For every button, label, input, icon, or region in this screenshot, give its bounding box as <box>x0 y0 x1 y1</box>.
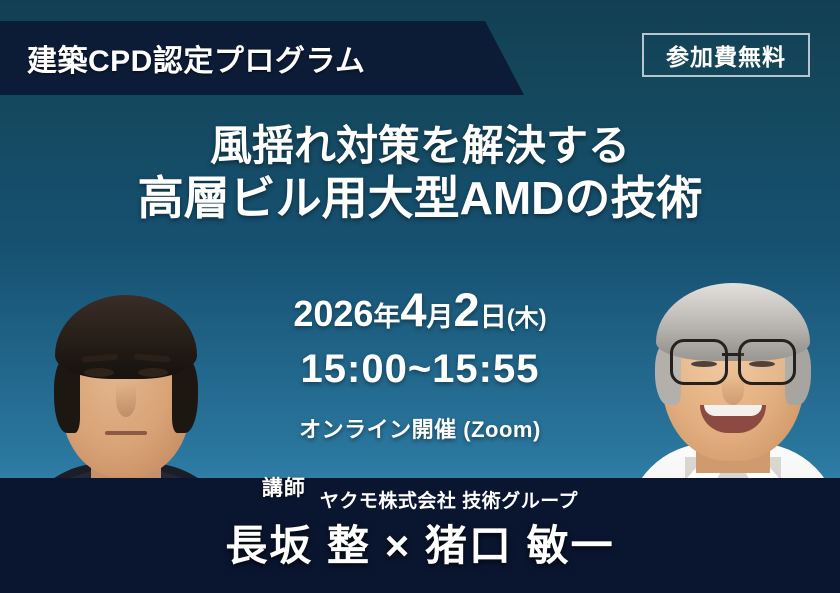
event-weekday: (木) <box>507 305 547 332</box>
free-admission-label: 参加費無料 <box>666 38 786 72</box>
event-month: 4 <box>400 283 426 336</box>
seminar-poster: 建築CPD認定プログラム 参加費無料 風揺れ対策を解決する 高層ビル用大型AMD… <box>0 0 840 593</box>
speaker-header-row: 講師 ヤクモ株式会社 技術グループ <box>0 474 840 504</box>
ribbon-label: 建築CPD認定プログラム <box>27 36 365 80</box>
title-line-1: 風揺れ対策を解決する <box>0 124 840 169</box>
seminar-title: 風揺れ対策を解決する 高層ビル用大型AMDの技術 <box>0 124 840 224</box>
event-day-unit: 日 <box>480 302 507 332</box>
event-time: 15:00~15:55 <box>0 347 840 392</box>
speaker-role-label: 講師 <box>262 472 306 502</box>
title-line-2: 高層ビル用大型AMDの技術 <box>0 173 840 225</box>
event-date: 2026年4月2日(木) <box>0 282 840 337</box>
cpd-program-ribbon: 建築CPD認定プログラム <box>0 21 524 95</box>
speaker-organization: ヤクモ株式会社 技術グループ <box>320 486 578 513</box>
free-admission-badge: 参加費無料 <box>642 33 810 77</box>
event-month-unit: 月 <box>427 302 454 332</box>
speaker-names: 長坂 整 × 猪口 敏一 <box>0 512 840 573</box>
event-day: 2 <box>454 283 480 336</box>
event-year: 2026 <box>293 293 373 334</box>
event-venue: オンライン開催 (Zoom) <box>0 412 840 444</box>
speaker-info: 講師 ヤクモ株式会社 技術グループ 長坂 整 × 猪口 敏一 <box>0 474 840 573</box>
event-year-unit: 年 <box>373 302 400 332</box>
